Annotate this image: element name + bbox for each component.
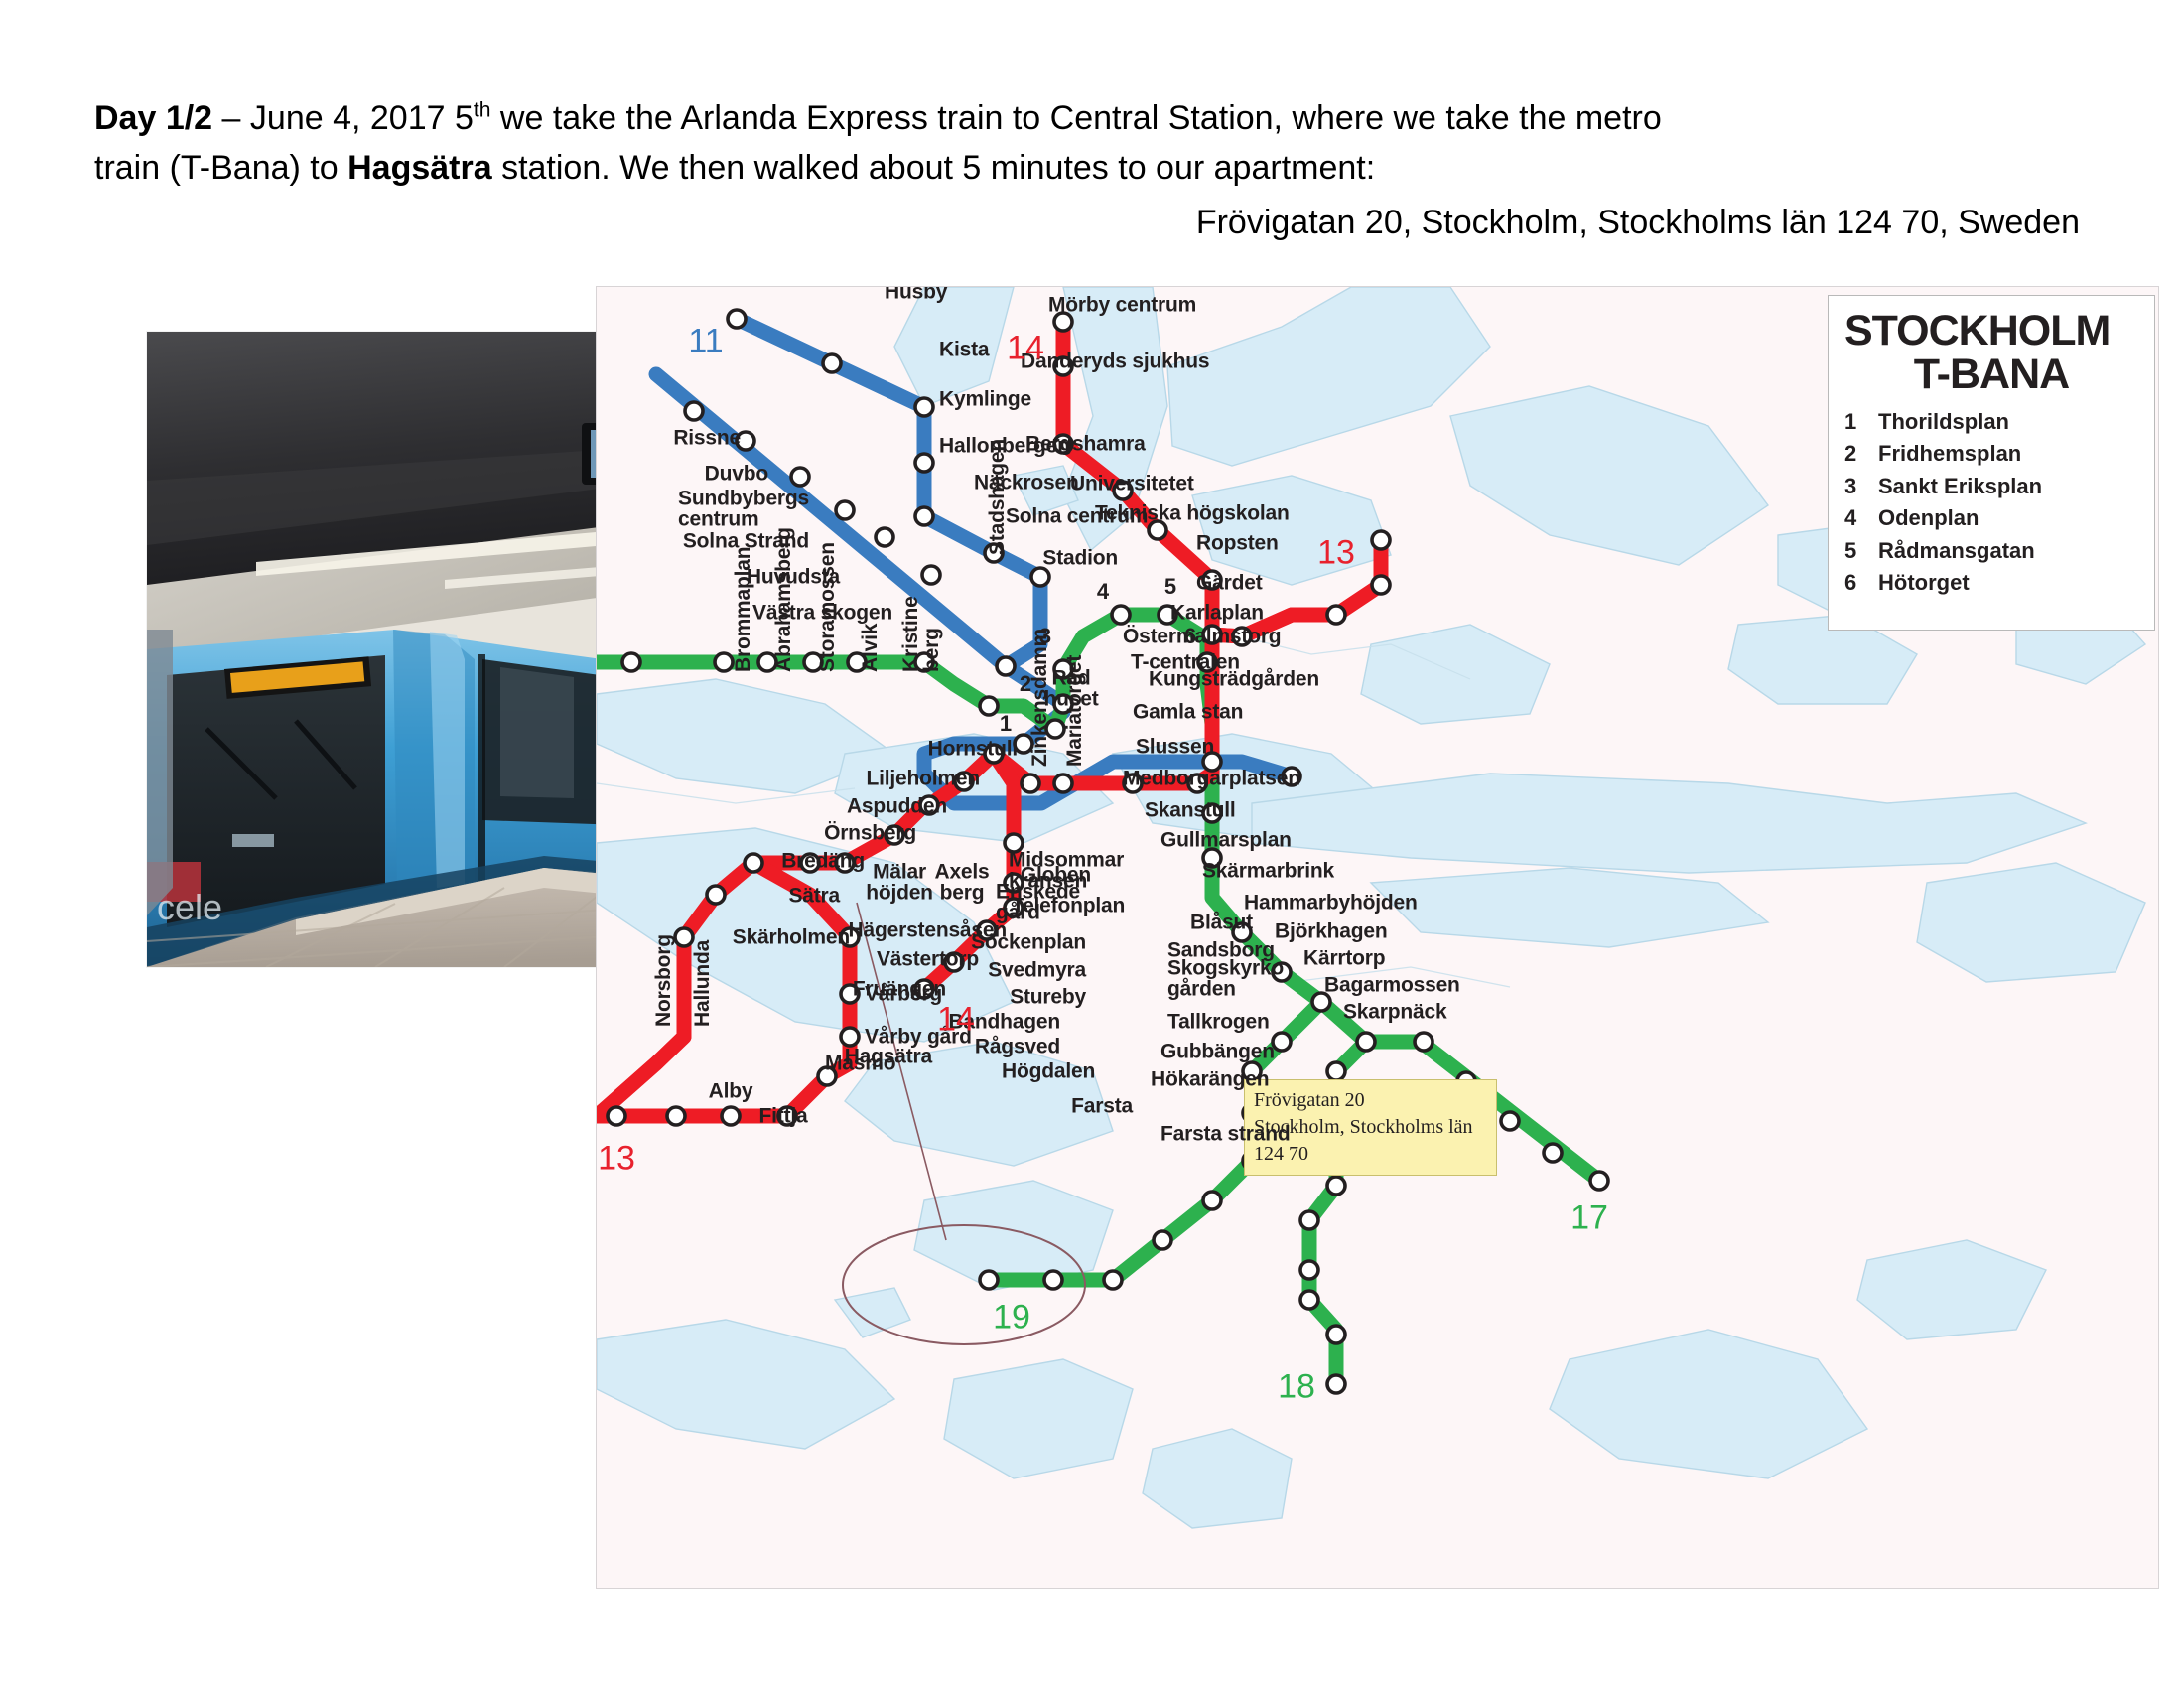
trip-note-line1: Day 1/2 – June 4, 2017 5th we take the A… xyxy=(94,94,2090,142)
station-label: Tekniska högskolan xyxy=(1095,502,1290,523)
station-label: Slussen xyxy=(1136,736,1214,757)
legend-item: 1Thorildsplan xyxy=(1844,409,2138,435)
station-label: Medborgarplatsen xyxy=(1123,768,1300,788)
station-label-vertical: Alvik xyxy=(860,624,881,672)
legend-label: Thorildsplan xyxy=(1878,409,2009,435)
callout-line1: Frövigatan 20 xyxy=(1254,1087,1487,1114)
station-label-vertical: Storamossen xyxy=(817,542,838,672)
trip-note-text: Day 1/2 – June 4, 2017 5th we take the A… xyxy=(94,94,2090,246)
station-label: Vårberg xyxy=(865,983,942,1004)
legend-number: 4 xyxy=(1844,505,1878,531)
station-label: Hägerstensåsen xyxy=(849,919,1007,940)
station-label: Kista xyxy=(939,339,989,359)
trip-note-line2: train (T-Bana) to Hagsätra station. We t… xyxy=(94,144,2090,192)
dash: – xyxy=(212,99,250,137)
numbered-interchange-marker: 5 xyxy=(1164,574,1176,600)
station-label-vertical: Brommaplan xyxy=(733,547,753,672)
legend-item: 5Rådmansgatan xyxy=(1844,538,2138,564)
stockholm-tbana-map: STOCKHOLM T-BANA 1Thorildsplan 2 Fridhem… xyxy=(596,286,2159,1589)
line-terminus-number: 13 xyxy=(598,1140,635,1179)
station-label: Kärrtorp xyxy=(1303,947,1385,968)
legend-label: Odenplan xyxy=(1878,505,1979,531)
station-label: Stadion xyxy=(1042,547,1118,568)
station-label: Aspudden xyxy=(847,795,947,816)
station-label-vertical: Stadshagen xyxy=(987,439,1008,555)
svg-text:cele: cele xyxy=(157,887,222,927)
station-label-vertical: Abrahamsberg xyxy=(773,527,794,672)
legend-number: 1 xyxy=(1844,409,1878,435)
line-terminus-number: 19 xyxy=(993,1299,1030,1337)
station-label: Fittja xyxy=(759,1105,808,1126)
station-label: Västertorp xyxy=(877,948,979,969)
station-label: Sundbybergscentrum xyxy=(678,489,809,531)
date-text: June 4, 2017 5 xyxy=(250,99,474,137)
station-label: Danderyds sjukhus xyxy=(1021,351,1209,371)
station-label: Liljeholmen xyxy=(867,768,980,788)
station-label: Bagarmossen xyxy=(1324,974,1460,995)
station-label: Gullmarsplan xyxy=(1160,829,1292,850)
station-label: Universitetet xyxy=(1070,473,1194,493)
line2-prefix: train (T-Bana) to xyxy=(94,149,347,187)
station-label: Högdalen xyxy=(1002,1060,1095,1081)
station-label: Blåsut xyxy=(1190,912,1253,932)
station-label: Masmo xyxy=(825,1053,895,1073)
line-terminus-number: 14 xyxy=(1007,330,1044,368)
station-label: Björkhagen xyxy=(1275,920,1388,941)
station-label: Sätra xyxy=(788,885,840,906)
station-label: Örnsberg xyxy=(824,822,916,843)
legend-item: 6Hötorget xyxy=(1844,570,2138,596)
map-legend: STOCKHOLM T-BANA 1Thorildsplan 2 Fridhem… xyxy=(1828,295,2155,631)
day-label: Day 1/2 xyxy=(94,99,212,137)
station-label: Axelsberg xyxy=(934,862,989,905)
ordinal-suffix: th xyxy=(474,99,491,122)
station-label: Hornstull xyxy=(928,738,1018,759)
station-hagsatra: Hagsätra xyxy=(347,149,492,187)
legend-title-line2: T-BANA xyxy=(1844,353,2138,397)
line-terminus-number: 18 xyxy=(1278,1368,1315,1407)
station-label: Bredäng xyxy=(781,850,865,871)
legend-item: 4Odenplan xyxy=(1844,505,2138,531)
station-label: Ropsten xyxy=(1196,532,1279,553)
station-label: Bergshamra xyxy=(1025,433,1146,454)
station-label: Skarpnäck xyxy=(1343,1001,1446,1022)
station-label: Duvbo xyxy=(705,463,768,484)
station-label: Kymlinge xyxy=(939,388,1031,409)
legend-title: STOCKHOLM T-BANA xyxy=(1844,310,2138,397)
station-label: Husby xyxy=(885,286,947,303)
station-label: Telefonplan xyxy=(1012,895,1125,915)
numbered-interchange-marker: 1 xyxy=(1000,711,1012,737)
legend-item: 3Sankt Eriksplan xyxy=(1844,474,2138,499)
station-label: Karlaplan xyxy=(1170,602,1264,623)
numbered-interchange-marker: 4 xyxy=(1097,579,1109,605)
station-label: Hammarbyhöjden xyxy=(1244,892,1418,913)
station-label-vertical: Mariatorget xyxy=(1064,655,1085,767)
legend-number: 3 xyxy=(1844,474,1878,499)
numbered-interchange-marker: 6 xyxy=(1184,624,1196,649)
station-label: Östermalmstorg xyxy=(1123,626,1281,646)
legend-item: 2 Fridhemsplan xyxy=(1844,441,2138,467)
legend-number: 2 xyxy=(1844,441,1878,467)
sentence-rest: we take the Arlanda Express train to Cen… xyxy=(490,99,1661,137)
legend-number: 6 xyxy=(1844,570,1878,596)
legend-label: Fridhemsplan xyxy=(1878,441,2021,467)
station-label: Mälarhöjden xyxy=(866,862,933,905)
station-label: Farsta strand xyxy=(1160,1123,1290,1144)
station-label: Kungsträdgården xyxy=(1149,668,1319,689)
legend-title-line1: STOCKHOLM xyxy=(1844,307,2110,354)
station-label: Hökarängen xyxy=(1151,1068,1269,1089)
station-label: Rissne xyxy=(673,427,741,448)
legend-number: 5 xyxy=(1844,538,1878,564)
numbered-interchange-marker: 3 xyxy=(1039,624,1051,649)
apartment-address: Frövigatan 20, Stockholm, Stockholms län… xyxy=(94,199,2090,246)
station-label: Skanstull xyxy=(1145,799,1236,820)
station-label: Tallkrogen xyxy=(1167,1011,1270,1032)
legend-label: Rådmansgatan xyxy=(1878,538,2035,564)
page-root: Day 1/2 – June 4, 2017 5th we take the A… xyxy=(0,0,2184,1688)
numbered-interchange-marker: 2 xyxy=(1020,671,1031,697)
station-label: Skärmarbrink xyxy=(1202,860,1334,881)
station-label: Stureby xyxy=(1010,986,1086,1007)
station-label: Svedmyra xyxy=(988,959,1086,980)
station-label: Gamla stan xyxy=(1133,701,1243,722)
legend-list: 1Thorildsplan 2 Fridhemsplan 3Sankt Erik… xyxy=(1844,409,2138,597)
station-label: Alby xyxy=(709,1080,753,1101)
station-label-vertical: Hallunda xyxy=(692,940,713,1027)
station-label: Mörby centrum xyxy=(1048,294,1196,315)
station-label: Midsommarkransen xyxy=(1009,850,1124,893)
legend-label: Hötorget xyxy=(1878,570,1970,596)
station-label: Gärdet xyxy=(1196,572,1263,593)
station-label: Gubbängen xyxy=(1160,1041,1275,1061)
line-terminus-number: 14 xyxy=(937,1001,975,1040)
line-terminus-number: 13 xyxy=(1317,534,1355,573)
line-terminus-number: 17 xyxy=(1570,1199,1608,1238)
station-label-vertical: Norsborg xyxy=(653,934,674,1027)
line2-suffix: station. We then walked about 5 minutes … xyxy=(492,149,1376,187)
station-label: Farsta xyxy=(1071,1095,1133,1116)
legend-label: Sankt Eriksplan xyxy=(1878,474,2042,499)
station-label: Rågsved xyxy=(975,1036,1060,1056)
station-label: Skärholmen xyxy=(733,926,850,947)
station-label-vertical: Kristineberg xyxy=(900,596,943,672)
station-label: Skogskyrkogården xyxy=(1167,958,1284,1001)
line-terminus-number: 11 xyxy=(688,323,723,361)
